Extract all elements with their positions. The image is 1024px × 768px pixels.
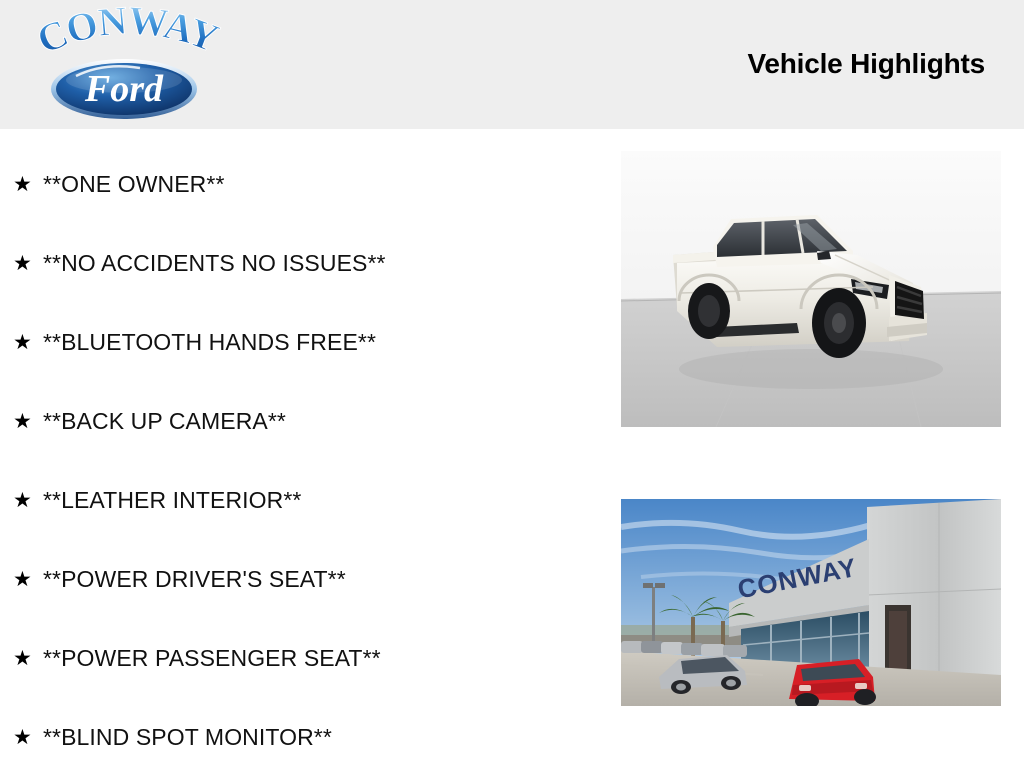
- list-item-label: **POWER DRIVER'S SEAT**: [43, 567, 346, 592]
- list-item: ★ **ONE OWNER**: [0, 145, 600, 224]
- list-item-label: **ONE OWNER**: [43, 172, 225, 197]
- list-item: ★ **NO ACCIDENTS NO ISSUES**: [0, 224, 600, 303]
- star-icon: ★: [13, 174, 43, 195]
- list-item-label: **BLIND SPOT MONITOR**: [43, 725, 332, 750]
- list-item: ★ **POWER DRIVER'S SEAT**: [0, 540, 600, 619]
- list-item-label: **NO ACCIDENTS NO ISSUES**: [43, 251, 386, 276]
- star-icon: ★: [13, 411, 43, 432]
- list-item: ★ **LEATHER INTERIOR**: [0, 461, 600, 540]
- red-car: [789, 659, 876, 706]
- list-item-label: **BACK UP CAMERA**: [43, 409, 286, 434]
- media-column: CONWAY: [621, 129, 1024, 768]
- star-icon: ★: [13, 332, 43, 353]
- logo-conway-text: CONWAY CONWAY: [30, 6, 224, 63]
- list-item: ★ **BLIND SPOT MONITOR**: [0, 698, 600, 768]
- list-item: ★ **BLUETOOTH HANDS FREE**: [0, 303, 600, 382]
- list-item-label: **BLUETOOTH HANDS FREE**: [43, 330, 376, 355]
- page-header: CONWAY CONWAY Ford Vehicle Highlights: [0, 0, 1024, 129]
- star-icon: ★: [13, 490, 43, 511]
- vehicle-photo[interactable]: [621, 151, 1001, 427]
- page-title: Vehicle Highlights: [747, 48, 985, 80]
- list-item-label: **POWER PASSENGER SEAT**: [43, 646, 381, 671]
- star-icon: ★: [13, 569, 43, 590]
- star-icon: ★: [13, 727, 43, 748]
- dealership-photo[interactable]: CONWAY: [621, 499, 1001, 706]
- star-icon: ★: [13, 253, 43, 274]
- star-icon: ★: [13, 648, 43, 669]
- list-item: ★ **POWER PASSENGER SEAT**: [0, 619, 600, 698]
- conway-ford-logo[interactable]: CONWAY CONWAY Ford: [24, 6, 224, 124]
- vehicle-highlights-page: CONWAY CONWAY Ford Vehicle Highlights: [0, 0, 1024, 768]
- highlights-list: ★ **ONE OWNER** ★ **NO ACCIDENTS NO ISSU…: [0, 129, 600, 768]
- list-item: ★ **BACK UP CAMERA**: [0, 382, 600, 461]
- logo-ford-oval: Ford: [51, 59, 197, 119]
- list-item-label: **LEATHER INTERIOR**: [43, 488, 301, 513]
- svg-text:Ford: Ford: [84, 68, 164, 110]
- svg-text:CONWAY: CONWAY: [30, 6, 224, 63]
